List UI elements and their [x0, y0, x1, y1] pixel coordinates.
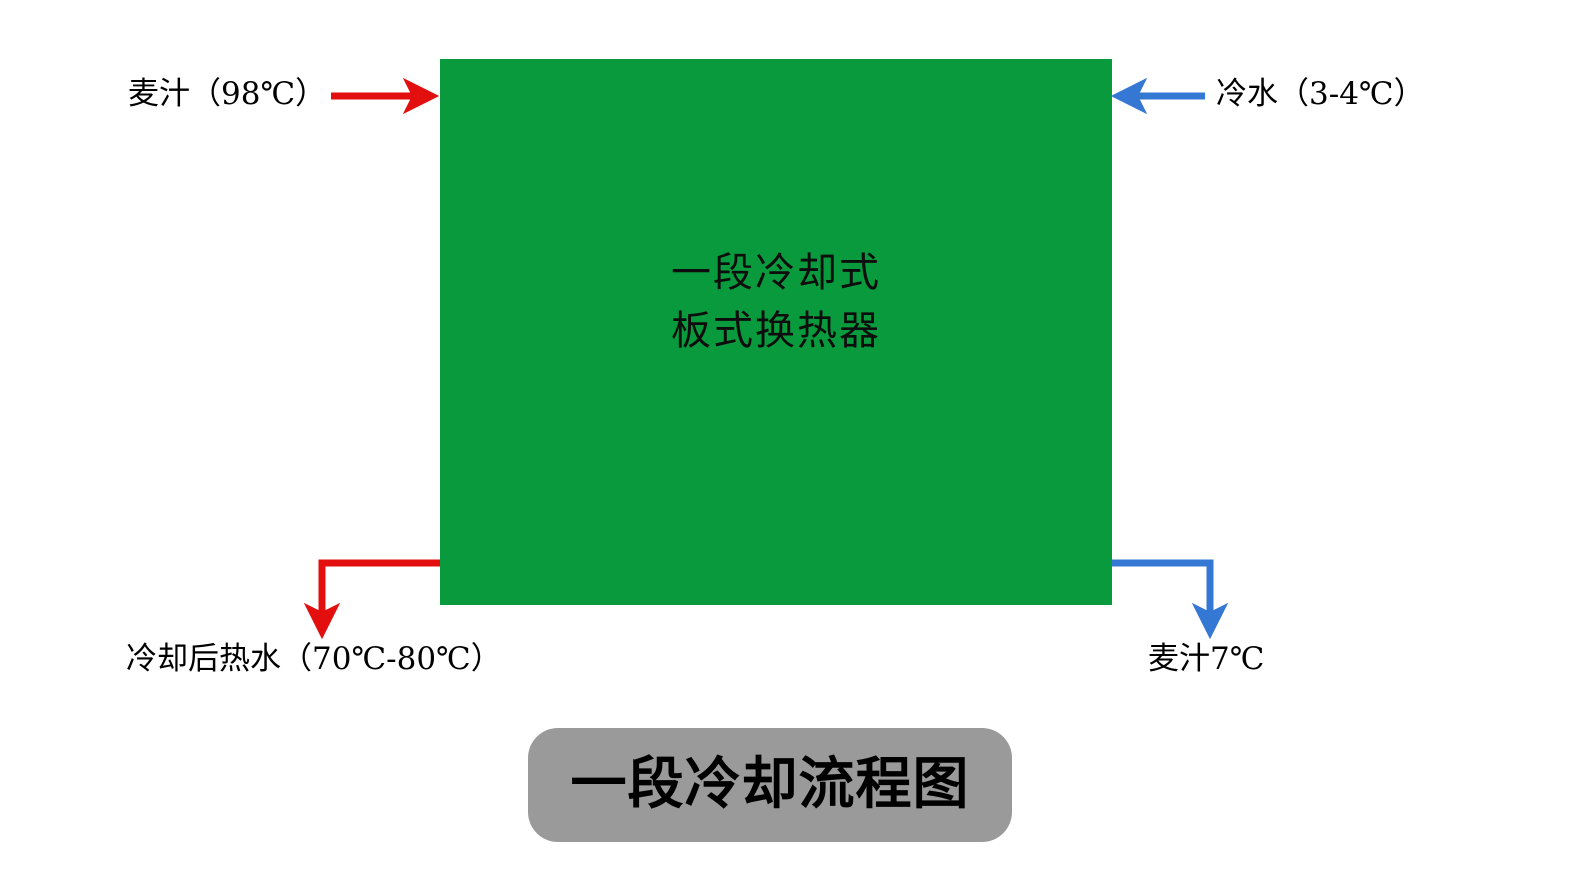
wort-inlet-label: 麦汁（98℃）	[128, 79, 326, 110]
equipment-label: 一段冷却式 板式换热器	[671, 244, 881, 360]
flow-diagram-canvas: 一段冷却式 板式换热器 麦汁（98℃） 冷水（3-4℃） 冷却后热水（70℃-8…	[0, 0, 1586, 892]
equipment-label-line-1: 一段冷却式	[671, 244, 881, 302]
hot-water-outlet-label: 冷却后热水（70℃-80℃）	[126, 644, 502, 675]
cold-water-inlet-label: 冷水（3-4℃）	[1216, 79, 1425, 110]
hot-water-outlet-arrow	[322, 563, 440, 628]
equipment-label-line-2: 板式换热器	[671, 302, 881, 360]
plate-heat-exchanger-block: 一段冷却式 板式换热器	[440, 59, 1112, 605]
wort-outlet-label: 麦汁7℃	[1148, 644, 1264, 675]
diagram-title: 一段冷却流程图	[571, 757, 970, 813]
wort-outlet-arrow	[1112, 563, 1210, 628]
diagram-title-banner: 一段冷却流程图	[528, 728, 1012, 842]
